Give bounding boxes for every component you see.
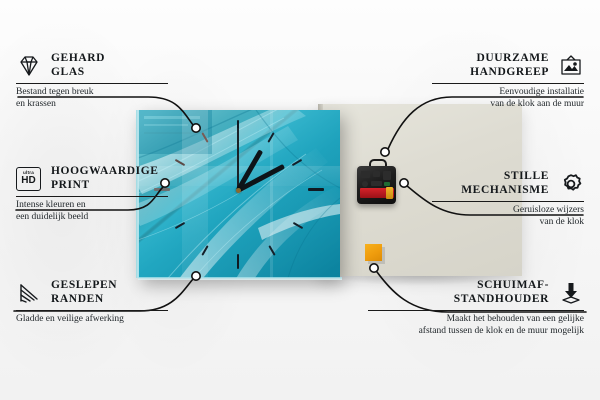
feature-hoogwaardige-print: ultra HD HOOGWAARDIGE PRINT Intense kleu… bbox=[16, 165, 168, 223]
feature-desc-line1: Gladde en veilige afwerking bbox=[16, 314, 168, 326]
feature-title-line1: HOOGWAARDIGE bbox=[51, 165, 159, 179]
feature-title: DUURZAME HANDGREEP bbox=[470, 52, 549, 79]
feature-title: STILLE MECHANISME bbox=[461, 170, 549, 197]
feature-description: Intense kleuren en een duidelijk beeld bbox=[16, 200, 168, 223]
feature-title-line1: GEHARD bbox=[51, 52, 105, 66]
hotspot-mechanism bbox=[400, 179, 408, 187]
feature-title: HOOGWAARDIGE PRINT bbox=[51, 165, 159, 192]
feature-gehard-glas: GEHARD GLAS Bestand tegen breuk en krass… bbox=[16, 52, 168, 110]
feature-geslepen-randen: GESLEPEN RANDEN Gladde en veilige afwerk… bbox=[16, 279, 168, 326]
feature-divider bbox=[432, 83, 584, 84]
feature-title-line2: RANDEN bbox=[51, 293, 117, 307]
feature-divider bbox=[432, 201, 584, 202]
feature-description: Bestand tegen breuk en krassen bbox=[16, 87, 168, 110]
hotspot-spacer bbox=[370, 264, 378, 272]
beveled-edges-icon bbox=[16, 281, 42, 305]
feature-desc-line1: Intense kleuren en bbox=[16, 200, 168, 212]
feature-title-line2: STANDHOUDER bbox=[454, 293, 549, 307]
feature-divider bbox=[16, 83, 168, 84]
feature-desc-line2: een duidelijk beeld bbox=[16, 212, 168, 224]
feature-title-line1: DUURZAME bbox=[470, 52, 549, 66]
feature-description: Maakt het behouden van een gelijke afsta… bbox=[368, 314, 584, 337]
feature-divider bbox=[16, 310, 168, 311]
feature-description: Eenvoudige installatie van de klok aan d… bbox=[432, 87, 584, 110]
feature-desc-line1: Maakt het behouden van een gelijke bbox=[368, 314, 584, 326]
feature-title-line2: MECHANISME bbox=[461, 184, 549, 198]
feature-title-line1: STILLE bbox=[461, 170, 549, 184]
infographic-canvas: GEHARD GLAS Bestand tegen breuk en krass… bbox=[0, 0, 600, 400]
hotspot-edges bbox=[192, 272, 200, 280]
feature-divider bbox=[368, 310, 584, 311]
feature-schuimafstandhouder: SCHUIMAF- STANDHOUDER Maakt het behouden… bbox=[368, 279, 584, 337]
spacer-arrow-icon bbox=[558, 281, 584, 305]
feature-desc-line1: Bestand tegen breuk bbox=[16, 87, 168, 99]
feature-title-line2: HANDGREEP bbox=[470, 66, 549, 80]
feature-title: SCHUIMAF- STANDHOUDER bbox=[454, 279, 549, 306]
feature-title: GESLEPEN RANDEN bbox=[51, 279, 117, 306]
diamond-icon bbox=[16, 54, 42, 78]
gear-icon bbox=[558, 172, 584, 196]
feature-duurzame-handgreep: DUURZAME HANDGREEP Eenvoudige installati… bbox=[432, 52, 584, 110]
feature-title-line1: SCHUIMAF- bbox=[454, 279, 549, 293]
feature-title-line2: PRINT bbox=[51, 179, 159, 193]
feature-description: Gladde en veilige afwerking bbox=[16, 314, 168, 326]
picture-frame-hook-icon bbox=[558, 54, 584, 78]
ultra-hd-icon-main-text: HD bbox=[21, 176, 35, 186]
feature-stille-mechanisme: STILLE MECHANISME Geruisloze wijzers van… bbox=[432, 170, 584, 228]
ultra-hd-icon: ultra HD bbox=[16, 167, 42, 191]
hotspot-glass bbox=[192, 124, 200, 132]
feature-desc-line2: van de klok aan de muur bbox=[432, 99, 584, 111]
feature-desc-line2: en krassen bbox=[16, 99, 168, 111]
hotspot-handle bbox=[381, 148, 389, 156]
feature-title-line1: GESLEPEN bbox=[51, 279, 117, 293]
feature-desc-line1: Geruisloze wijzers bbox=[432, 205, 584, 217]
feature-description: Geruisloze wijzers van de klok bbox=[432, 205, 584, 228]
feature-desc-line2: van de klok bbox=[432, 217, 584, 229]
feature-desc-line2: afstand tussen de klok en de muur mogeli… bbox=[368, 326, 584, 338]
feature-desc-line1: Eenvoudige installatie bbox=[432, 87, 584, 99]
feature-title-line2: GLAS bbox=[51, 66, 105, 80]
feature-divider bbox=[16, 196, 168, 197]
feature-title: GEHARD GLAS bbox=[51, 52, 105, 79]
